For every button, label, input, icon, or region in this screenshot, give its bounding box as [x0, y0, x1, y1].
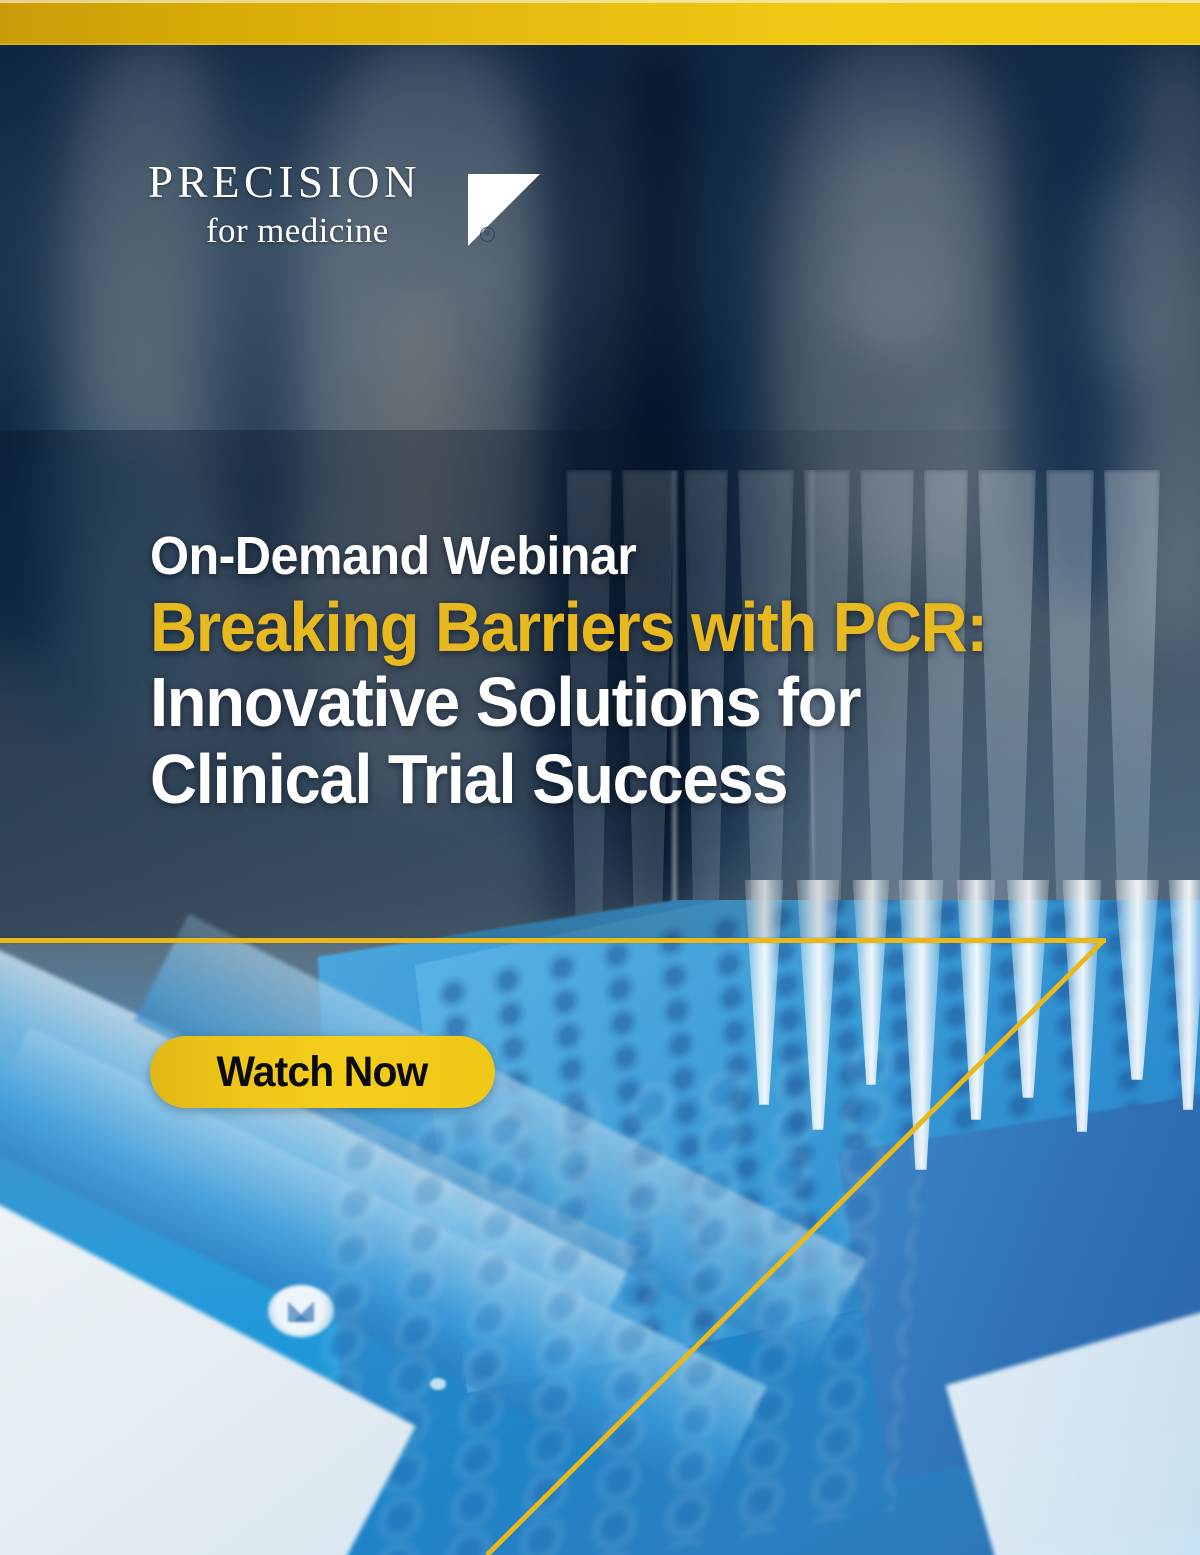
accent-bar-bottom-highlight [0, 43, 1200, 45]
photo-highlight-dot [430, 1378, 446, 1390]
logo-wordmark: PRECISION [148, 160, 508, 205]
triangle-shape [468, 174, 540, 246]
gold-accent-bar [0, 0, 1200, 45]
accent-bar-top-highlight [0, 0, 1200, 3]
watch-now-label: Watch Now [217, 1048, 428, 1097]
screw-cross-slot [288, 1302, 314, 1322]
webinar-poster: [] [0, 0, 1200, 1555]
precision-triangle-mark-icon: ® [468, 174, 540, 246]
headline-block: On-Demand Webinar Breaking Barriers with… [150, 528, 1140, 818]
brand-logo: PRECISION for medicine ® [148, 160, 508, 270]
photo-streak [830, 120, 970, 350]
title-line-three: Clinical Trial Success [150, 741, 1071, 818]
gold-horizontal-rule [0, 938, 1106, 943]
watch-now-button[interactable]: Watch Now [150, 1036, 495, 1108]
title-line-two: Innovative Solutions for [150, 664, 1071, 741]
logo-tagline: for medicine [206, 213, 508, 248]
photo-streak [1080, 180, 1190, 380]
title-line-gold: Breaking Barriers with PCR: [150, 590, 1071, 664]
webinar-kicker: On-Demand Webinar [150, 528, 1071, 584]
registered-trademark-icon: ® [480, 227, 495, 242]
